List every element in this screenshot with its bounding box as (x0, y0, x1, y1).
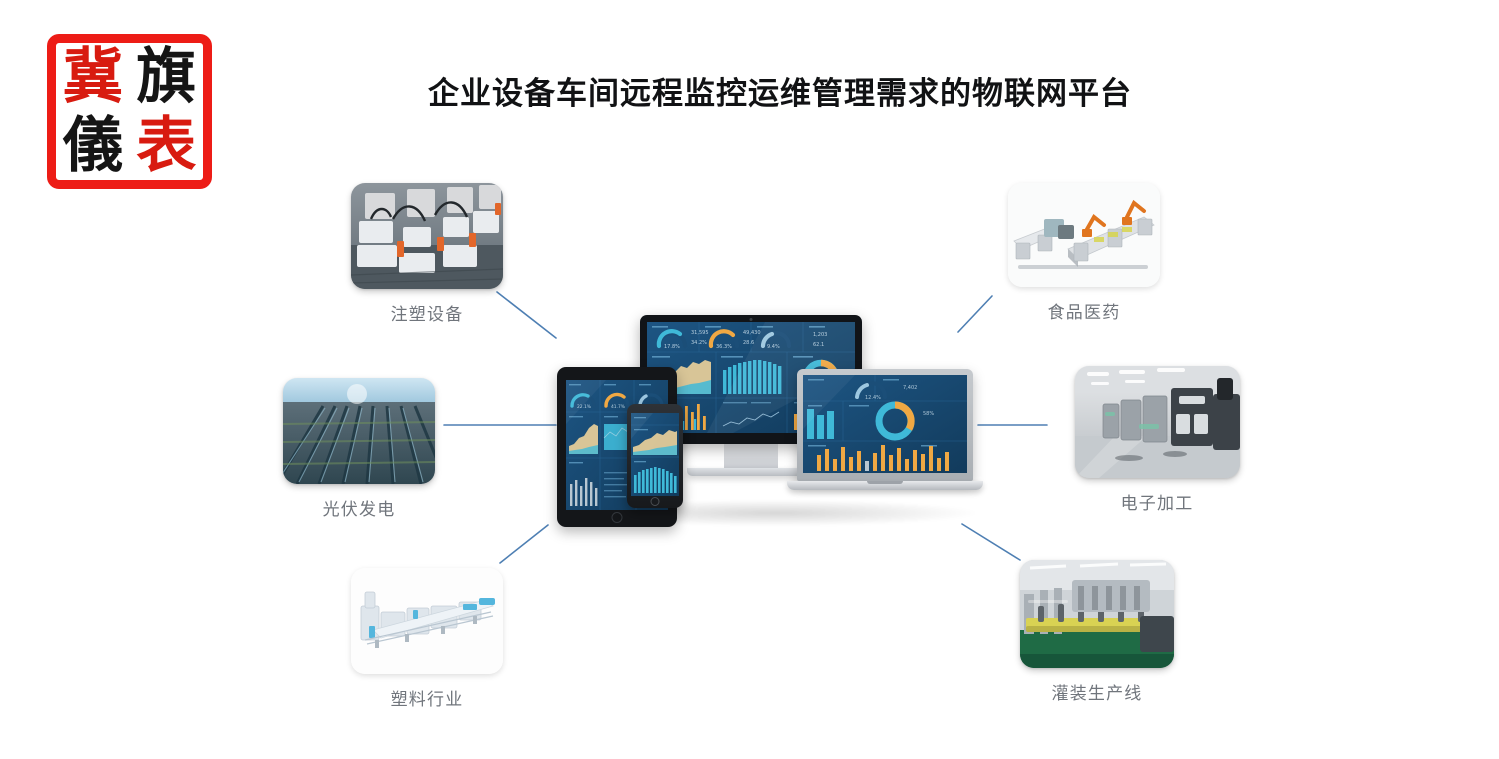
laptop-deck (787, 481, 983, 490)
node-injection-label: 注塑设备 (340, 300, 514, 325)
node-solar[interactable]: 光伏发电 (272, 378, 446, 520)
laptop-bezel: 12.4% 7,402 58% (797, 369, 973, 481)
node-filling[interactable]: 灌装生产线 (1010, 560, 1184, 704)
node-food-label: 食品医药 (997, 298, 1171, 323)
node-electron-label: 电子加工 (1070, 489, 1244, 514)
svg-text:49,430: 49,430 (743, 330, 761, 336)
line-to-filling (962, 524, 1020, 560)
node-solar-image (283, 378, 435, 484)
node-electron-image (1075, 366, 1240, 478)
node-injection[interactable]: 注塑设备 (340, 183, 514, 325)
svg-text:36.3%: 36.3% (716, 344, 732, 350)
svg-text:7,402: 7,402 (903, 385, 917, 391)
node-filling-label: 灌装生产线 (1010, 679, 1184, 704)
node-plastic-label: 塑料行业 (340, 685, 514, 710)
svg-text:28.6: 28.6 (743, 340, 754, 346)
monitor-stand-neck (724, 444, 778, 468)
phone-dashboard (631, 413, 679, 496)
node-solar-label: 光伏发电 (272, 495, 446, 520)
node-plastic[interactable]: 塑料行业 (340, 568, 514, 710)
slide-canvas: 冀 旗 儀 表 企业设备车间远程监控运维管理需求的物联网平台 (0, 0, 1499, 759)
phone-bezel (627, 404, 683, 508)
smartphone[interactable] (627, 404, 683, 508)
line-to-plastic (500, 525, 548, 563)
monitor-stand-base (687, 468, 815, 476)
svg-text:17.8%: 17.8% (664, 344, 680, 350)
iot-device-cluster: 17.8%36.3%9.4% 31,59534.2% 49,43028.6 1,… (545, 305, 975, 520)
node-food[interactable]: 食品医药 (997, 183, 1171, 323)
node-injection-image (351, 183, 503, 289)
node-filling-image (1020, 560, 1174, 668)
svg-text:34.2%: 34.2% (691, 340, 707, 346)
svg-text:58%: 58% (923, 411, 934, 417)
node-food-image (1008, 183, 1160, 287)
node-plastic-image (351, 568, 503, 674)
svg-text:12.4%: 12.4% (865, 395, 881, 401)
node-electron[interactable]: 电子加工 (1070, 366, 1244, 514)
svg-text:41.7%: 41.7% (611, 404, 625, 410)
svg-text:31,595: 31,595 (691, 330, 709, 336)
laptop[interactable]: 12.4% 7,402 58% (797, 369, 983, 490)
laptop-dashboard: 12.4% 7,402 58% (803, 375, 967, 473)
